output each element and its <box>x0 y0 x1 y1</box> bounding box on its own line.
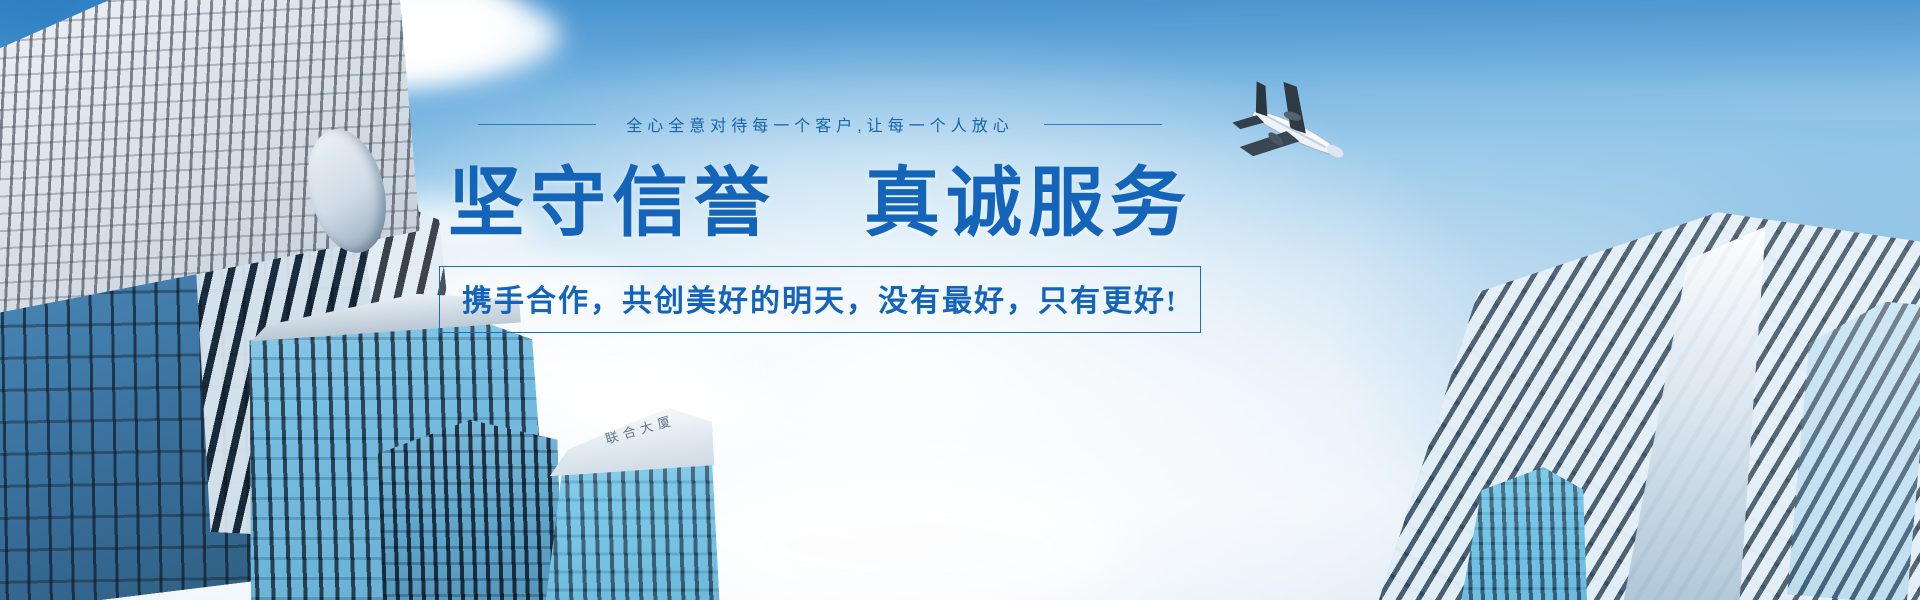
tagline-rule-left-icon <box>478 124 596 125</box>
headline: 坚守信誉 真诚服务 <box>0 163 1640 247</box>
tagline-row: 全心全意对待每一个客户,让每一个人放心 <box>0 112 1640 136</box>
tagline-text: 全心全意对待每一个客户,让每一个人放心 <box>626 112 1013 136</box>
headline-part-2: 真诚服务 <box>864 162 1192 246</box>
subtitle-text: 携手合作，共创美好的明天，没有最好，只有更好! <box>439 266 1201 333</box>
subtitle-container: 携手合作，共创美好的明天，没有最好，只有更好! <box>0 266 1640 333</box>
banner-content: 全心全意对待每一个客户,让每一个人放心 坚守信誉 真诚服务 携手合作，共创美好的… <box>0 0 1920 600</box>
tagline-rule-right-icon <box>1044 124 1162 125</box>
headline-part-1: 坚守信誉 <box>448 162 776 246</box>
hero-banner: 联合大厦 <box>0 0 1920 600</box>
